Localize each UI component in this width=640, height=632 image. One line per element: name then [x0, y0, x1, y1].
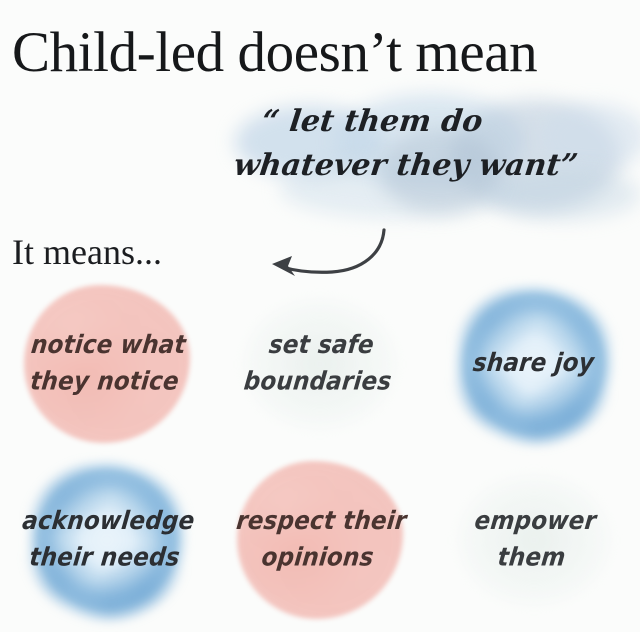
- item-label: empower them: [423, 504, 640, 577]
- item-label-line: opinions: [209, 540, 426, 576]
- item-label-line: respect their: [213, 504, 430, 540]
- item-label: acknowledge their needs: [0, 504, 217, 577]
- quote-line-2: whatever they want”: [232, 148, 580, 183]
- quote-line-1: “ let them do: [260, 104, 485, 139]
- item-label: share joy: [425, 346, 640, 382]
- item-label-line: notice what: [0, 328, 217, 364]
- item-cell-respect-their-opinions: respect their opinions: [213, 454, 426, 626]
- item-cell-notice-what-they-notice: notice what they notice: [0, 278, 213, 450]
- item-cell-set-safe-boundaries: set safe boundaries: [213, 278, 426, 450]
- item-label-line: their needs: [0, 540, 213, 576]
- item-label-line: acknowledge: [0, 504, 217, 540]
- item-cell-empower-them: empower them: [427, 454, 640, 626]
- item-label-line: share joy: [425, 346, 640, 382]
- item-label: respect their opinions: [209, 504, 430, 577]
- item-label-line: set safe: [213, 328, 430, 364]
- infographic-poster: Child-led doesn’t mean “ let them do wha…: [0, 0, 640, 632]
- items-grid: notice what they notice set safe boundar…: [0, 278, 640, 628]
- item-label-line: empower: [427, 504, 640, 540]
- item-label-line: they notice: [0, 364, 213, 400]
- item-cell-acknowledge-their-needs: acknowledge their needs: [0, 454, 213, 626]
- item-label: set safe boundaries: [209, 328, 430, 401]
- page-title: Child-led doesn’t mean: [12, 22, 537, 84]
- item-cell-share-joy: share joy: [427, 278, 640, 450]
- item-label-line: boundaries: [209, 364, 426, 400]
- item-label: notice what they notice: [0, 328, 217, 401]
- item-label-line: them: [423, 540, 640, 576]
- quote-block: “ let them do whatever they want”: [240, 98, 640, 216]
- lead-in-text: It means...: [12, 232, 162, 272]
